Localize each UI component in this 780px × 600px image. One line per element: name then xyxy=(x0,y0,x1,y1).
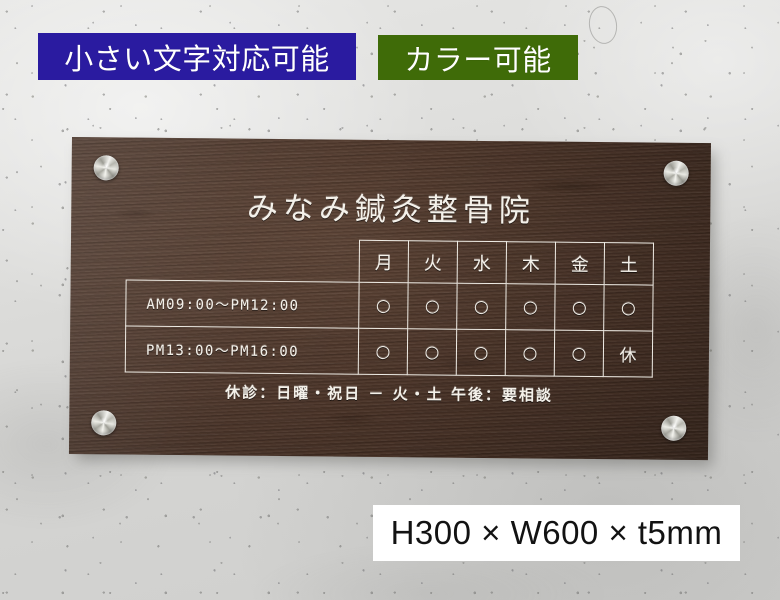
day-header-fri: 金 xyxy=(555,242,604,284)
standoff-cap-top-right-icon xyxy=(664,161,689,186)
badge-color-available: カラー可能 xyxy=(378,35,578,80)
product-photo-scene: 小さい文字対応可能 カラー可能 みなみ鍼灸整骨院 月 火 xyxy=(0,0,780,600)
mark-afternoon-fri: ○ xyxy=(554,330,603,376)
opening-hours-table: 月 火 水 木 金 土 AM09:00〜PM12:00 ○ ○ ○ ○ ○ ○ xyxy=(125,238,654,378)
standoff-cap-bottom-right-icon xyxy=(661,416,686,441)
mark-morning-sat: ○ xyxy=(604,285,653,331)
mark-morning-wed: ○ xyxy=(457,283,506,329)
day-header-mon: 月 xyxy=(359,240,408,282)
table-header-row: 月 火 水 木 金 土 xyxy=(126,238,653,285)
day-header-thu: 木 xyxy=(506,242,555,284)
mark-morning-thu: ○ xyxy=(506,284,555,330)
mark-afternoon-thu: ○ xyxy=(505,330,554,376)
mark-morning-tue: ○ xyxy=(408,283,457,329)
day-header-sat: 土 xyxy=(604,243,653,285)
shop-name-title: みなみ鍼灸整骨院 xyxy=(71,181,710,232)
mark-afternoon-sat-closed: 休 xyxy=(603,331,652,377)
standoff-cap-top-left-icon xyxy=(94,155,119,180)
size-caption-label: H300 × W600 × t5mm xyxy=(373,505,740,561)
mark-afternoon-wed: ○ xyxy=(456,329,505,375)
standoff-cap-bottom-left-icon xyxy=(91,410,116,435)
table-row: AM09:00〜PM12:00 ○ ○ ○ ○ ○ ○ xyxy=(126,280,653,331)
time-label-afternoon: PM13:00〜PM16:00 xyxy=(125,326,358,374)
day-header-tue: 火 xyxy=(408,241,457,283)
badge-small-text-support: 小さい文字対応可能 xyxy=(38,33,356,80)
mark-afternoon-mon: ○ xyxy=(358,328,407,374)
time-label-morning: AM09:00〜PM12:00 xyxy=(126,280,359,328)
mark-morning-mon: ○ xyxy=(359,282,408,328)
mark-afternoon-tue: ○ xyxy=(407,329,456,375)
wooden-sign-board: みなみ鍼灸整骨院 月 火 水 木 金 土 xyxy=(69,137,711,460)
day-header-wed: 水 xyxy=(457,241,506,283)
table-corner-cell xyxy=(126,238,359,282)
mark-morning-fri: ○ xyxy=(555,284,604,330)
table-row: PM13:00〜PM16:00 ○ ○ ○ ○ ○ 休 xyxy=(125,326,652,377)
